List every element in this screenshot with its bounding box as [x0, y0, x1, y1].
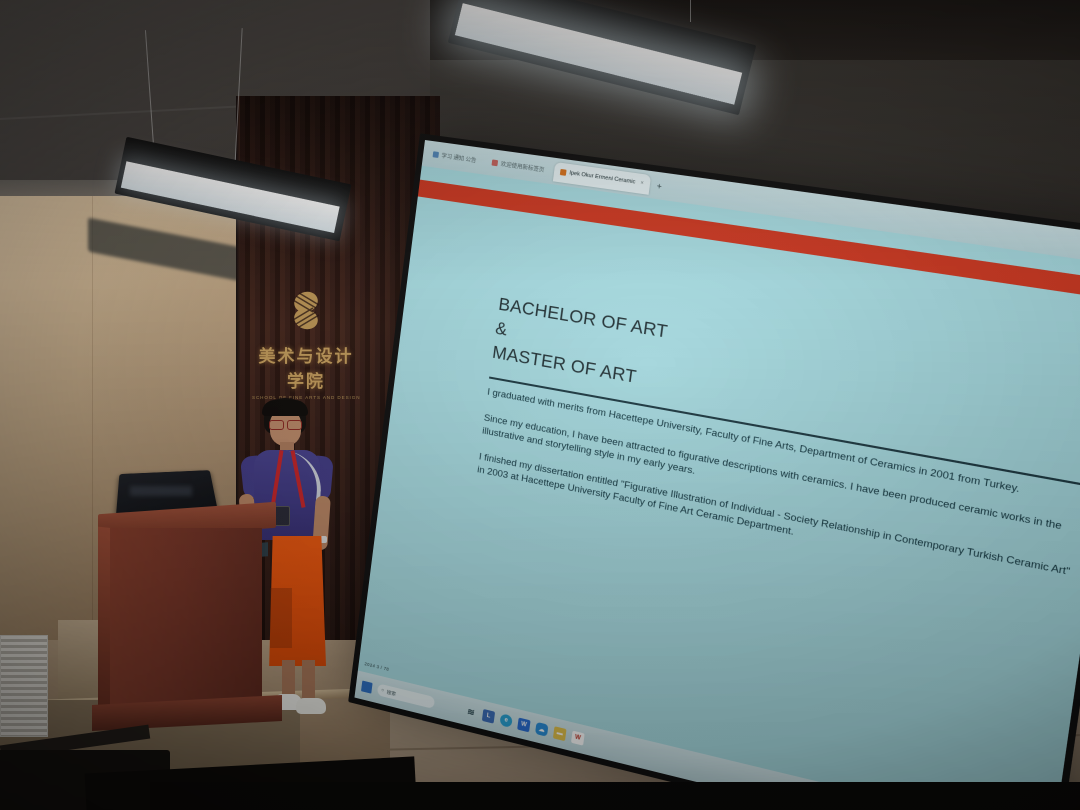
orange-favicon: [560, 169, 567, 176]
red-favicon: [492, 159, 499, 166]
skirt-shadow: [270, 588, 292, 648]
browser-window: 学习 通知 公告 欢迎使用新标签页 Ipek Okur Ermeni Ceram…: [354, 140, 1080, 810]
blue-favicon: [433, 151, 439, 158]
glasses: [269, 420, 302, 428]
podium-body: [110, 528, 262, 718]
search-placeholder: 搜索: [386, 688, 396, 697]
browser-tab-title: 学习 通知 公告: [441, 151, 477, 164]
school-logo-chinese: 美术与设计学院: [252, 342, 360, 392]
new-tab-button[interactable]: +: [653, 180, 665, 191]
file-explorer-icon[interactable]: L: [482, 709, 495, 724]
wifi-icon[interactable]: ≋: [464, 705, 477, 720]
wechat-icon[interactable]: W: [517, 718, 530, 733]
browser-tab-title: Ipek Okur Ermeni Ceramic: [569, 170, 636, 185]
magnifier-icon: ○: [381, 688, 384, 694]
start-button[interactable]: [361, 680, 373, 693]
wall-panel-seam: [92, 196, 93, 666]
folder-icon[interactable]: ▬: [553, 726, 567, 741]
woven-flower-emblem-icon: [286, 288, 326, 332]
right-leg: [302, 660, 315, 702]
right-shoe: [296, 698, 326, 714]
monitor-glow: [130, 486, 192, 496]
wps-office-icon[interactable]: W: [571, 731, 585, 746]
search-input[interactable]: ○ 搜索: [377, 683, 435, 709]
slide-content: BACHELOR OF ART & MASTER OF ART I gradua…: [475, 291, 1080, 609]
cloud-drive-icon[interactable]: ☁: [535, 722, 549, 737]
close-icon[interactable]: ×: [640, 180, 644, 187]
hair-fringe: [262, 400, 308, 416]
air-vent-grille: [0, 635, 48, 737]
badge: [274, 506, 290, 526]
light-suspension-wire: [690, 0, 691, 22]
foreground-bar: [150, 782, 1080, 810]
school-logo: 美术与设计学院 SCHOOL OF FINE ARTS AND DESIGN: [252, 288, 360, 393]
lanyard: [272, 450, 302, 512]
browser-tab-title: 欢迎使用新标签页: [500, 160, 545, 174]
lecture-hall-photo: 美术与设计学院 SCHOOL OF FINE ARTS AND DESIGN 学…: [0, 0, 1080, 810]
edge-icon[interactable]: e: [499, 713, 512, 728]
projected-screen: 学习 通知 公告 欢迎使用新标签页 Ipek Okur Ermeni Ceram…: [354, 140, 1080, 810]
